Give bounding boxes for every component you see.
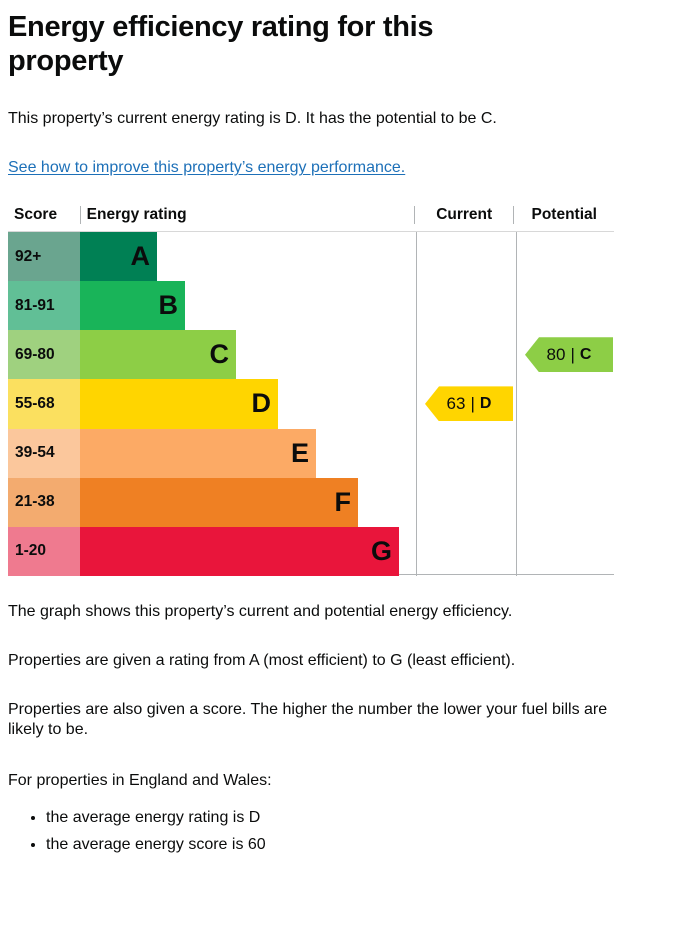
region-paragraph: For properties in England and Wales: (8, 771, 675, 792)
current-score-value: 63 (447, 394, 466, 414)
potential-band-letter: C (580, 346, 592, 364)
potential-cell-d (516, 379, 617, 428)
current-cell-b (416, 281, 516, 330)
score-range-a: 92+ (8, 232, 80, 281)
rating-description-paragraph: Properties are given a rating from A (mo… (8, 651, 675, 672)
intro-paragraph: This property’s current energy rating is… (8, 109, 675, 130)
current-cell-f (416, 478, 516, 527)
header-current: Current (414, 206, 514, 224)
potential-cell-f (516, 478, 617, 527)
potential-cell-e (516, 429, 617, 478)
band-letter-c: C (80, 330, 236, 379)
score-description-paragraph: Properties are also given a score. The h… (8, 700, 628, 742)
band-letter-e: E (80, 429, 316, 478)
rating-bar-cell-b: B (80, 281, 416, 330)
score-range-f: 21-38 (8, 478, 80, 527)
potential-score-value: 80 (547, 345, 566, 365)
current-cell-g (416, 527, 516, 576)
current-cell-a (416, 232, 516, 281)
band-letter-a: A (80, 232, 157, 281)
score-range-c: 69-80 (8, 330, 80, 379)
rating-row-e: 39-54E (8, 429, 614, 478)
potential-separator: | (569, 345, 575, 365)
potential-cell-c: 80|C (516, 330, 617, 379)
header-energy-rating: Energy rating (80, 206, 414, 224)
graph-description-paragraph: The graph shows this property’s current … (8, 602, 675, 623)
epc-page: Energy efficiency rating for this proper… (0, 0, 683, 927)
band-letter-b: B (80, 281, 185, 330)
rating-bar-cell-e: E (80, 429, 416, 478)
rating-row-a: 92+A (8, 232, 614, 281)
energy-rating-graph: Score Energy rating Current Potential 92… (8, 206, 614, 575)
current-cell-e (416, 429, 516, 478)
rating-bar-cell-a: A (80, 232, 416, 281)
rating-bar-cell-f: F (80, 478, 416, 527)
rating-bar-cell-c: C (80, 330, 416, 379)
band-letter-d: D (80, 379, 278, 428)
current-separator: | (469, 394, 475, 414)
list-item: the average energy score is 60 (46, 833, 675, 858)
score-range-g: 1-20 (8, 527, 80, 576)
score-range-d: 55-68 (8, 379, 80, 428)
potential-cell-g (516, 527, 617, 576)
rating-bar-cell-d: D (80, 379, 416, 428)
score-range-e: 39-54 (8, 429, 80, 478)
rating-row-b: 81-91B (8, 281, 614, 330)
current-cell-c (416, 330, 516, 379)
potential-cell-a (516, 232, 617, 281)
potential-cell-b (516, 281, 617, 330)
average-facts-list: the average energy rating is Dthe averag… (8, 806, 675, 858)
rating-row-g: 1-20G (8, 527, 614, 576)
header-potential: Potential (513, 206, 614, 224)
potential-rating-marker: 80|C (525, 337, 613, 372)
band-letter-g: G (80, 527, 399, 576)
page-title: Energy efficiency rating for this proper… (8, 0, 528, 78)
current-band-letter: D (480, 395, 492, 413)
graph-header-row: Score Energy rating Current Potential (8, 206, 614, 231)
current-rating-marker: 63|D (425, 386, 513, 421)
rating-row-c: 69-80C80|C (8, 330, 614, 379)
rating-row-d: 55-68D63|D (8, 379, 614, 428)
rating-row-f: 21-38F (8, 478, 614, 527)
score-range-b: 81-91 (8, 281, 80, 330)
current-cell-d: 63|D (416, 379, 516, 428)
graph-body: 92+A81-91B69-80C80|C55-68D63|D39-54E21-3… (8, 231, 614, 575)
rating-bar-cell-g: G (80, 527, 416, 576)
list-item: the average energy rating is D (46, 806, 675, 831)
header-score: Score (8, 206, 80, 224)
band-letter-f: F (80, 478, 358, 527)
improve-energy-performance-link[interactable]: See how to improve this property’s energ… (8, 158, 405, 179)
